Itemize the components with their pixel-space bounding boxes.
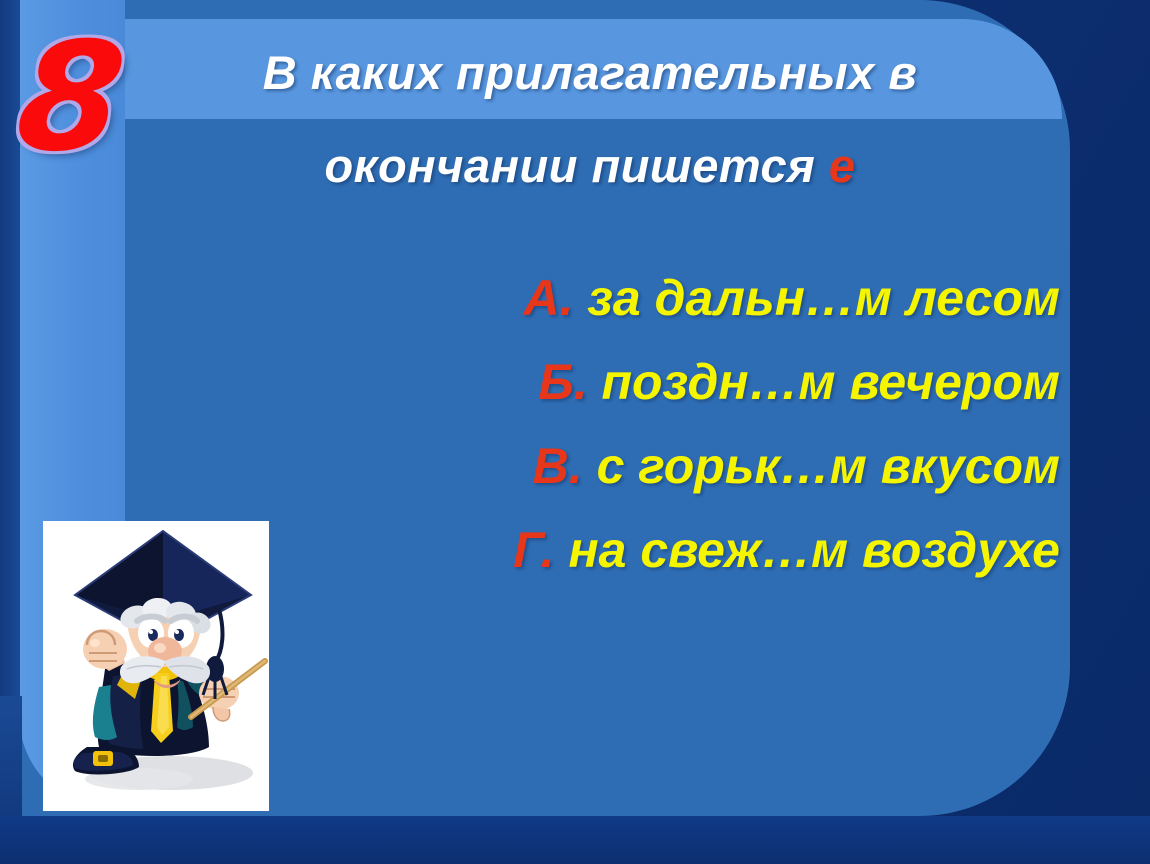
question-number: 8 [7, 8, 136, 188]
answer-option-g-letter: Г. [513, 522, 554, 578]
answer-option-a-text: за дальн…м лесом [587, 270, 1060, 326]
title-accent-letter: е [829, 139, 856, 192]
answer-option-b[interactable]: Б. поздн…м вечером [150, 340, 1060, 424]
title-line-2: окончании пишется е [140, 119, 1040, 212]
bottom-navy-strip [0, 816, 1150, 864]
answer-option-v[interactable]: В. с горьк…м вкусом [150, 424, 1060, 508]
answer-option-b-letter: Б. [538, 354, 587, 410]
title-line-1: В каких прилагательных в [140, 26, 1040, 119]
answer-option-v-letter: В. [533, 438, 583, 494]
bottom-left-corner-accent [0, 696, 22, 816]
answer-option-b-text: поздн…м вечером [602, 354, 1060, 410]
title-line-2-text: окончании пишется [324, 139, 828, 192]
answer-option-g[interactable]: Г. на свеж…м воздухе [150, 508, 1060, 592]
answer-options-list: А. за дальн…м лесом Б. поздн…м вечером В… [150, 256, 1060, 592]
quiz-slide: 8 В каких прилагательных в окончании пиш… [0, 0, 1150, 864]
answer-option-a-letter: А. [523, 270, 573, 326]
answer-option-g-text: на свеж…м воздухе [568, 522, 1060, 578]
answer-option-a[interactable]: А. за дальн…м лесом [150, 256, 1060, 340]
question-title: В каких прилагательных в окончании пишет… [140, 26, 1040, 212]
professor-cartoon-image [43, 521, 269, 811]
answer-option-v-text: с горьк…м вкусом [597, 438, 1060, 494]
